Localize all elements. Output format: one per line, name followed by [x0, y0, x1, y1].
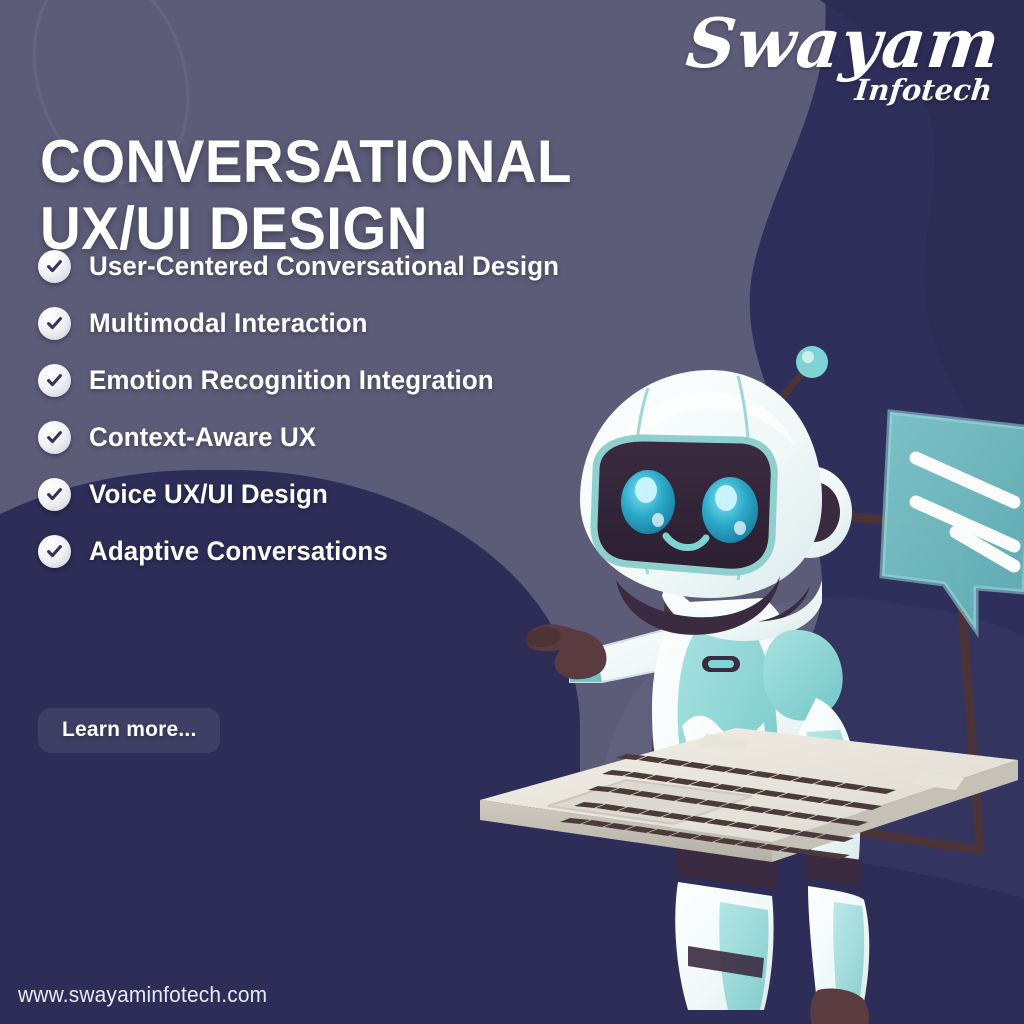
list-item: Emotion Recognition Integration: [38, 364, 718, 397]
website-url[interactable]: www.swayaminfotech.com: [18, 982, 267, 1008]
list-item: Multimodal Interaction: [38, 307, 718, 340]
list-item: Adaptive Conversations: [38, 535, 718, 568]
check-circle-icon: [38, 364, 71, 397]
feature-label: Context-Aware UX: [89, 422, 316, 453]
chat-bubble-icon: [882, 412, 1024, 630]
feature-label: Multimodal Interaction: [89, 308, 368, 339]
check-circle-icon: [38, 535, 71, 568]
list-item: Context-Aware UX: [38, 421, 718, 454]
feature-label: User-Centered Conversational Design: [89, 251, 559, 282]
poster-canvas: Swayam Infotech CONVERSATIONAL UX/UI DES…: [0, 0, 1024, 1024]
check-circle-icon: [38, 250, 71, 283]
check-circle-icon: [38, 307, 71, 340]
check-circle-icon: [38, 478, 71, 511]
page-title-line-1: CONVERSATIONAL: [40, 128, 642, 195]
learn-more-button[interactable]: Learn more...: [38, 708, 220, 753]
feature-label: Emotion Recognition Integration: [89, 365, 494, 396]
check-circle-icon: [38, 421, 71, 454]
feature-label: Adaptive Conversations: [89, 536, 388, 567]
brand-logo: Swayam Infotech: [680, 10, 1000, 140]
page-title: CONVERSATIONAL UX/UI DESIGN: [40, 128, 642, 262]
list-item: User-Centered Conversational Design: [38, 250, 718, 283]
feature-list: User-Centered Conversational Design Mult…: [38, 250, 718, 568]
brand-logo-name: Swayam: [676, 10, 1003, 78]
feature-label: Voice UX/UI Design: [89, 479, 328, 510]
brand-logo-tagline: Infotech: [678, 76, 993, 105]
list-item: Voice UX/UI Design: [38, 478, 718, 511]
